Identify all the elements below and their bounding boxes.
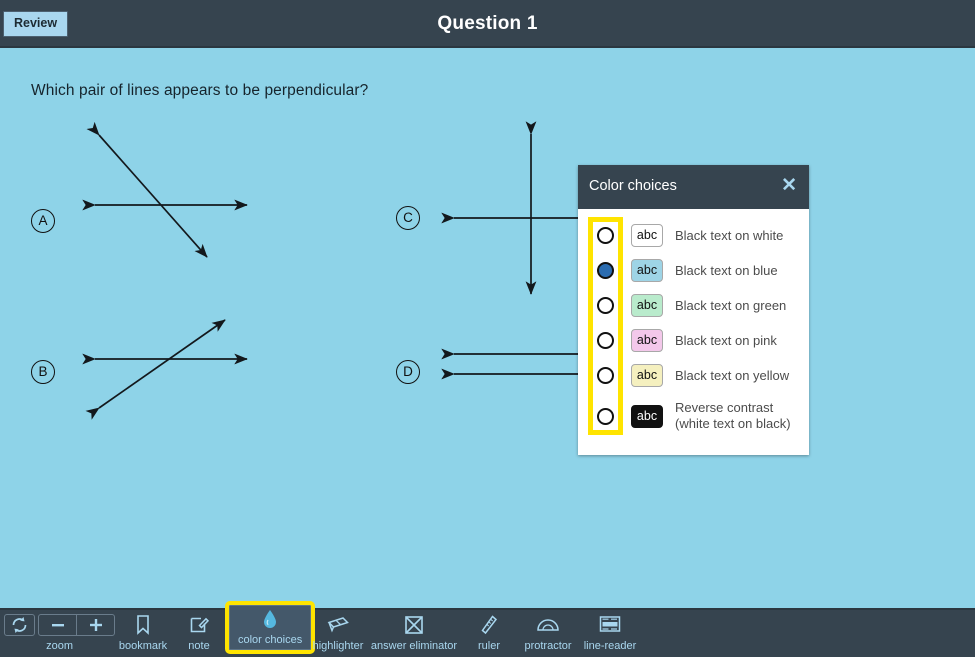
- highlighter-icon: [307, 614, 369, 638]
- color-option-reverse-contrast[interactable]: abc Reverse contrast (white text on blac…: [578, 393, 809, 439]
- ruler-icon: [466, 614, 512, 638]
- tool-ruler-label: ruler: [466, 640, 512, 655]
- tool-bookmark[interactable]: bookmark: [113, 614, 173, 655]
- color-option-pink-label: Black text on pink: [675, 333, 777, 349]
- tool-ruler[interactable]: ruler: [466, 614, 512, 655]
- color-option-yellow[interactable]: abc Black text on yellow: [578, 358, 809, 393]
- radio-yellow[interactable]: [597, 367, 614, 384]
- reverse-contrast-line-1: Reverse contrast: [675, 400, 773, 415]
- tool-color-choices[interactable]: color choices: [229, 605, 311, 650]
- tool-line-reader[interactable]: line-reader: [576, 614, 644, 655]
- zoom-reset-button[interactable]: [4, 614, 35, 636]
- plus-icon: [88, 617, 104, 633]
- reverse-contrast-line-2: (white text on black): [675, 416, 791, 431]
- close-icon[interactable]: ✕: [781, 176, 797, 195]
- color-choices-panel: Color choices ✕ abc Black text on white …: [578, 165, 809, 455]
- radio-reverse-contrast[interactable]: [597, 408, 614, 425]
- option-b-label: B: [31, 360, 55, 384]
- minus-icon: [50, 617, 66, 633]
- color-choices-list: abc Black text on white abc Black text o…: [578, 209, 809, 455]
- swatch-yellow: abc: [631, 364, 663, 387]
- tool-bookmark-label: bookmark: [113, 640, 173, 655]
- note-icon: [175, 614, 223, 638]
- tool-answer-eliminator[interactable]: answer eliminator: [367, 614, 461, 655]
- radio-green[interactable]: [597, 297, 614, 314]
- color-option-white-label: Black text on white: [675, 228, 783, 244]
- radio-white[interactable]: [597, 227, 614, 244]
- color-choices-panel-title: Color choices: [589, 178, 677, 194]
- bottom-toolbar: zoom bookmark note: [0, 608, 975, 657]
- tool-line-reader-label: line-reader: [576, 640, 644, 655]
- option-d-label: D: [396, 360, 420, 384]
- droplet-icon: [238, 608, 302, 632]
- zoom-label: zoom: [4, 640, 115, 655]
- zoom-controls: [4, 614, 115, 638]
- refresh-icon: [5, 615, 34, 635]
- test-player: Review Question 1 Which pair of lines ap…: [0, 0, 975, 657]
- line-reader-icon: [576, 614, 644, 638]
- radio-blue[interactable]: [597, 262, 614, 279]
- tool-note-label: note: [175, 640, 223, 655]
- color-option-green[interactable]: abc Black text on green: [578, 288, 809, 323]
- question-stem: Which pair of lines appears to be perpen…: [31, 82, 368, 100]
- option-a-diagram: [59, 135, 259, 275]
- bookmark-icon: [113, 614, 173, 638]
- tool-color-choices-label: color choices: [238, 634, 302, 649]
- radio-pink[interactable]: [597, 332, 614, 349]
- color-option-yellow-label: Black text on yellow: [675, 368, 789, 384]
- tool-highlighter-label: highlighter: [307, 640, 369, 655]
- zoom-out-button[interactable]: [39, 615, 76, 635]
- color-option-pink[interactable]: abc Black text on pink: [578, 323, 809, 358]
- option-c-label: C: [396, 206, 420, 230]
- tool-answer-eliminator-label: answer eliminator: [367, 640, 461, 655]
- color-option-green-label: Black text on green: [675, 298, 786, 314]
- zoom-group: zoom: [4, 614, 115, 655]
- swatch-green: abc: [631, 294, 663, 317]
- option-b-diagram: [59, 312, 259, 422]
- zoom-stepper: [38, 614, 115, 636]
- color-option-blue-label: Black text on blue: [675, 263, 778, 279]
- color-choices-panel-header: Color choices ✕: [578, 165, 809, 209]
- swatch-blue: abc: [631, 259, 663, 282]
- swatch-reverse-contrast: abc: [631, 405, 663, 428]
- tool-note[interactable]: note: [175, 614, 223, 655]
- tool-protractor-label: protractor: [514, 640, 582, 655]
- answer-eliminator-icon: [367, 614, 461, 638]
- top-bar: Review Question 1: [0, 0, 975, 48]
- page-title: Question 1: [0, 13, 975, 35]
- option-a-label: A: [31, 209, 55, 233]
- swatch-white: abc: [631, 224, 663, 247]
- tool-protractor[interactable]: protractor: [514, 614, 582, 655]
- tool-highlighter[interactable]: highlighter: [307, 614, 369, 655]
- zoom-in-button[interactable]: [76, 615, 114, 635]
- color-option-white[interactable]: abc Black text on white: [578, 218, 809, 253]
- swatch-pink: abc: [631, 329, 663, 352]
- protractor-icon: [514, 614, 582, 638]
- color-option-reverse-contrast-label: Reverse contrast (white text on black): [675, 400, 791, 432]
- color-option-blue[interactable]: abc Black text on blue: [578, 253, 809, 288]
